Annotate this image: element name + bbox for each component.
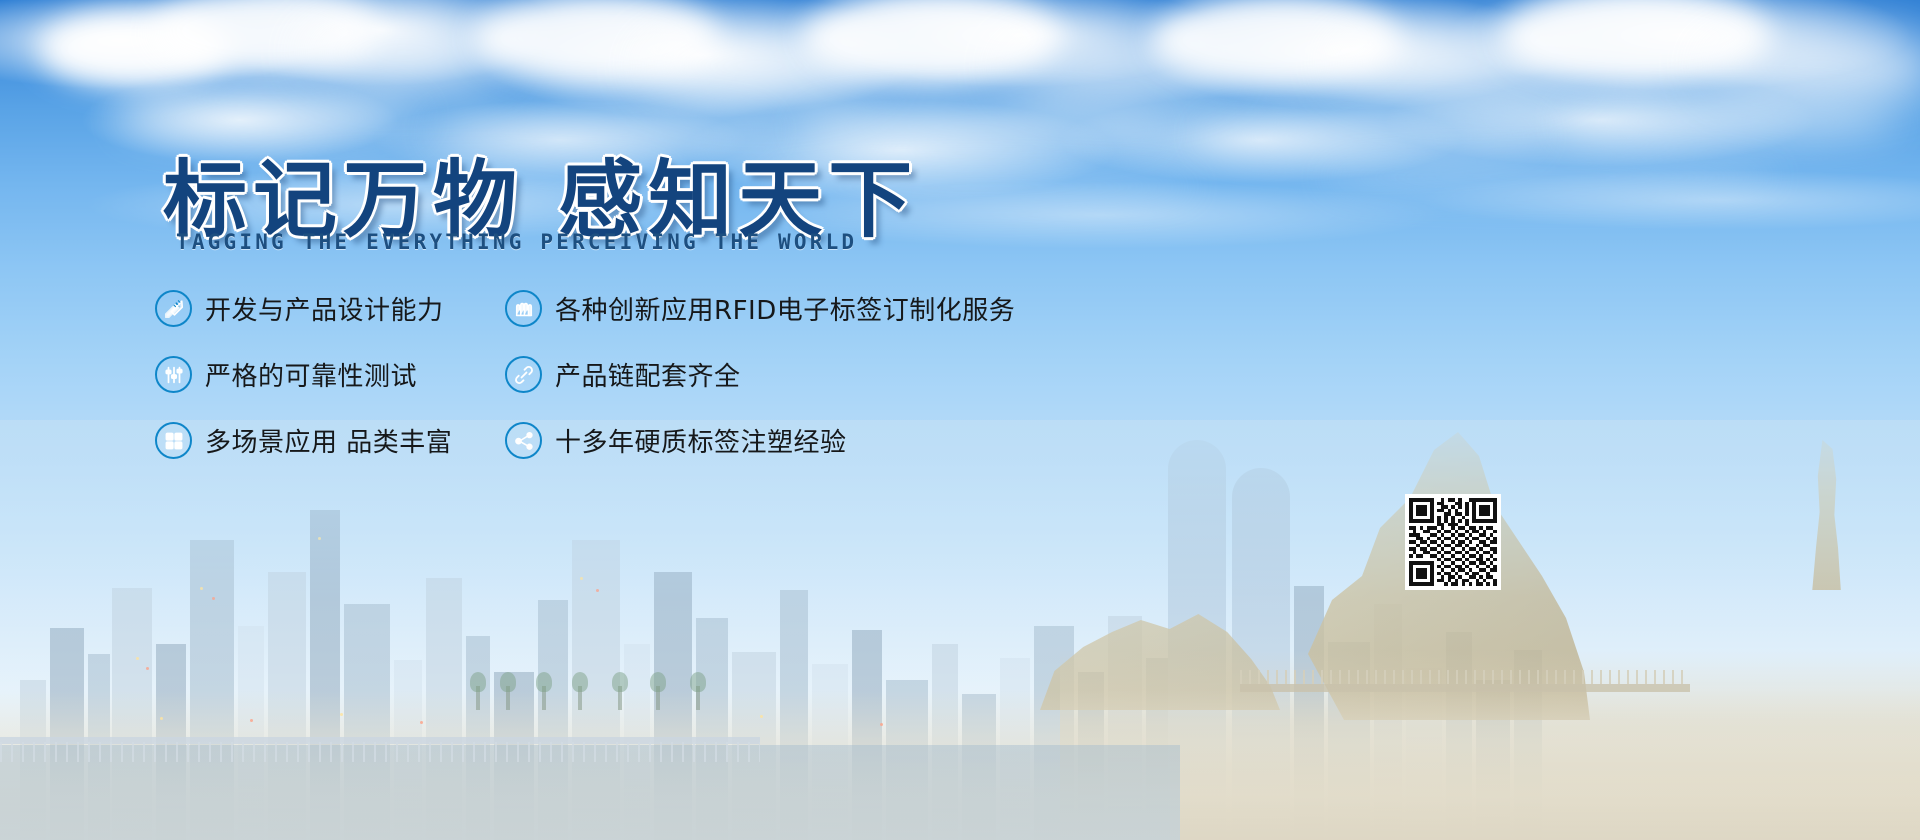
feature-row: 开发与产品设计能力 各种创新应用RFID电子标签订制化服务 <box>155 290 1055 354</box>
feature-item: 十多年硬质标签注塑经验 <box>505 422 847 459</box>
share-nodes-icon <box>505 422 542 459</box>
feature-item: 开发与产品设计能力 <box>155 290 444 327</box>
ruler-pencil-icon <box>155 290 192 327</box>
feature-label: 产品链配套齐全 <box>555 356 741 393</box>
link-chain-icon <box>505 356 542 393</box>
feature-row: 多场景应用 品类丰富 十多年硬质标签注塑经验 <box>155 422 1055 486</box>
feature-label: 十多年硬质标签注塑经验 <box>555 422 847 459</box>
promo-banner: 标记万物 感知天下 TAGGING THE EVERYTHING PERCEIV… <box>0 0 1920 840</box>
feature-label: 多场景应用 品类丰富 <box>205 422 452 459</box>
feature-label: 各种创新应用RFID电子标签订制化服务 <box>555 290 1015 327</box>
feature-label: 开发与产品设计能力 <box>205 290 444 327</box>
banner-content: 标记万物 感知天下 TAGGING THE EVERYTHING PERCEIV… <box>0 0 1920 840</box>
banner-tagline: TAGGING THE EVERYTHING PERCEIVING THE WO… <box>176 230 857 254</box>
feature-item: 严格的可靠性测试 <box>155 356 417 393</box>
feature-item: 产品链配套齐全 <box>505 356 741 393</box>
feature-item: 多场景应用 品类丰富 <box>155 422 452 459</box>
grid-squares-icon <box>155 422 192 459</box>
sliders-icon <box>155 356 192 393</box>
crown-icon <box>505 290 542 327</box>
feature-row: 严格的可靠性测试 产品链配套齐全 <box>155 356 1055 420</box>
feature-item: 各种创新应用RFID电子标签订制化服务 <box>505 290 1015 327</box>
feature-list: 开发与产品设计能力 各种创新应用RFID电子标签订制化服务 <box>155 290 1055 487</box>
feature-label: 严格的可靠性测试 <box>205 356 417 393</box>
qr-code-modules <box>1409 498 1497 586</box>
qr-code[interactable] <box>1405 494 1501 590</box>
